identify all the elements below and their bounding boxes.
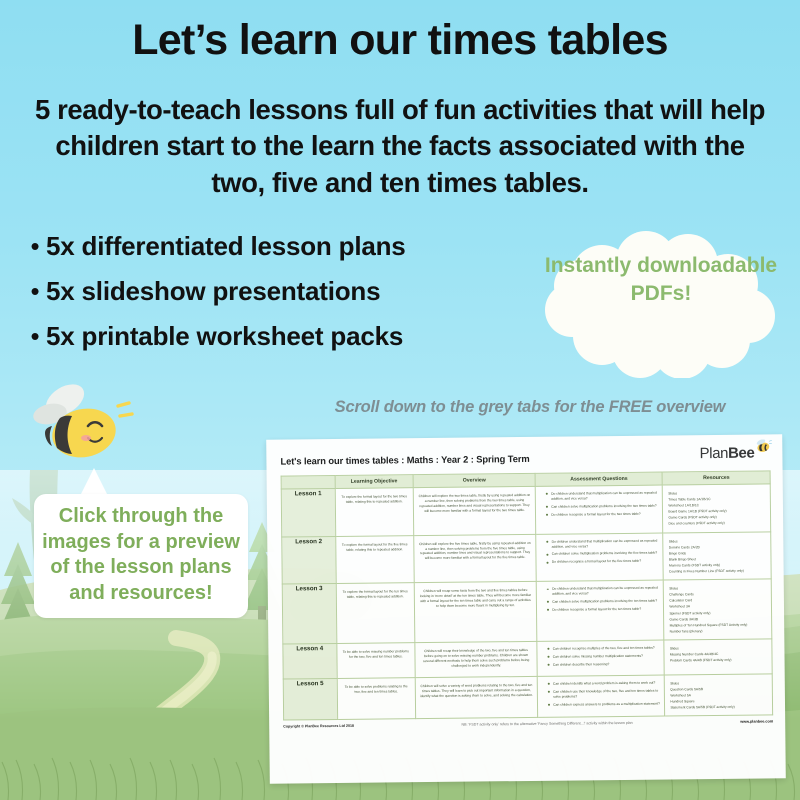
assessment-question: Do children understand that multiplicati…	[546, 491, 658, 502]
page-title: Let’s learn our times tables	[0, 16, 800, 65]
footer-copyright: Copyright © PlanBee Resources Ltd 2018	[283, 724, 354, 729]
cell-assessment-questions: Do children understand that multiplicati…	[536, 533, 664, 582]
planbee-logo: PlanBee	[700, 444, 771, 462]
assessment-question: Can children use their knowledge of the …	[548, 688, 660, 699]
footer-url: www.planbee.com	[740, 720, 773, 724]
assessment-question: Can children solve multiplication proble…	[547, 599, 659, 605]
assessment-question: Do children recognise a formal layout fo…	[546, 511, 658, 517]
cell-learning-objective: To be able to solve missing number probl…	[337, 643, 416, 679]
column-header-blank	[281, 475, 335, 489]
column-header-overview: Overview	[413, 473, 535, 487]
lesson-plan-table: Learning Objective Overview Assessment Q…	[281, 470, 774, 720]
bullet-label: 5x differentiated lesson plans	[46, 228, 406, 264]
cloud-badge-text: Instantly downloadable PDFs!	[536, 252, 786, 308]
bullet-dot-icon: •	[24, 273, 46, 309]
assessment-question: Do children understand that multiplicati…	[547, 586, 659, 597]
speech-bubble-text: Click through the images for a preview o…	[42, 504, 240, 606]
cell-lesson-number: Lesson 4	[283, 643, 337, 678]
cell-overview: Children will solve a variety of word pr…	[415, 676, 538, 719]
assessment-question: Can children solve missing number multip…	[548, 653, 660, 659]
bullet-label: 5x slideshow presentations	[46, 273, 380, 309]
cell-resources: SlidesTimes Table Cards 1A/1B/1CWorkshee…	[663, 484, 771, 533]
resource-item: Number fans (plenary)	[670, 627, 767, 634]
resource-item: Problem Cards 4A/4B (FSDT activity only)	[670, 657, 767, 664]
cell-learning-objective: To be able to solve problems relating to…	[337, 677, 416, 719]
cell-learning-objective: To explore the formal layout for the fiv…	[336, 535, 415, 583]
logo-bee-icon	[754, 439, 772, 453]
page-subtitle: 5 ready-to-teach lessons full of fun act…	[34, 92, 766, 201]
resource-item: Dice and counters (FSDT activity only)	[668, 520, 765, 527]
bullet-dot-icon: •	[24, 228, 46, 264]
logo-text-bee: Bee	[728, 445, 755, 462]
assessment-question: Can children solve multiplication proble…	[546, 503, 658, 509]
cloud-badge: Instantly downloadable PDFs!	[536, 228, 786, 378]
table-row: Lesson 5To be able to solve problems rel…	[283, 674, 772, 721]
bullet-label: 5x printable worksheet packs	[46, 318, 403, 354]
resource-item: Statement Cards 5A/5B (FSDT activity onl…	[670, 704, 767, 711]
assessment-question: Do children recognise a formal layout fo…	[547, 559, 659, 565]
cell-learning-objective: To explore the formal layout for the ten…	[336, 583, 415, 644]
table-row: Lesson 4To be able to solve missing numb…	[283, 639, 772, 679]
list-item: • 5x printable worksheet packs	[24, 318, 524, 354]
cell-resources: SlidesQuestion Cards 5A/5BWorksheet 5AHu…	[665, 674, 773, 717]
cell-lesson-number: Lesson 2	[282, 536, 336, 584]
promo-graphic: Let’s learn our times tables 5 ready-to-…	[0, 0, 800, 800]
document-title: Let's learn our times tables : Maths : Y…	[280, 447, 529, 467]
cell-assessment-questions: Can children recognise multiples of the …	[537, 640, 664, 676]
column-header-assessment-questions: Assessment Questions	[535, 472, 662, 486]
table-row: Lesson 3To explore the formal layout for…	[282, 579, 772, 644]
cell-overview: Children will explore the two times tabl…	[413, 486, 536, 535]
cell-assessment-questions: Do children understand that multiplicati…	[535, 485, 663, 534]
assessment-question: Can children express answers to problems…	[548, 701, 660, 707]
cell-overview: Children will explore the five times tab…	[414, 534, 537, 583]
list-item: • 5x differentiated lesson plans	[24, 228, 524, 264]
speech-bubble: Click through the images for a preview o…	[34, 494, 248, 618]
assessment-question: Do children recognise a formal layout fo…	[547, 607, 659, 613]
assessment-question: Can children solve multiplication proble…	[547, 551, 659, 557]
bullet-dot-icon: •	[24, 318, 46, 354]
cell-learning-objective: To explore the formal layout for the two…	[335, 488, 414, 536]
cell-assessment-questions: Do children understand that multiplicati…	[536, 580, 664, 641]
assessment-question: Can children identify what a word proble…	[548, 680, 660, 686]
cell-lesson-number: Lesson 3	[282, 584, 336, 644]
assessment-question: Can children describe their reasoning?	[548, 661, 660, 667]
column-header-resources: Resources	[662, 471, 770, 485]
table-row: Lesson 1To explore the formal layout for…	[281, 484, 770, 537]
cell-overview: Children will recap some facts from the …	[414, 582, 537, 643]
cell-assessment-questions: Can children identify what a word proble…	[537, 675, 665, 718]
cell-lesson-number: Lesson 1	[281, 488, 335, 536]
scroll-hint-text: Scroll down to the grey tabs for the FRE…	[280, 398, 780, 417]
lesson-overview-document[interactable]: Let's learn our times tables : Maths : Y…	[266, 434, 786, 783]
assessment-question: Do children understand that multiplicati…	[547, 538, 659, 549]
cell-resources: SlidesMissing Number Cards 4A/4B/4CProbl…	[664, 639, 772, 675]
table-row: Lesson 2To explore the formal layout for…	[282, 531, 771, 584]
cell-overview: Children will recap their knowledge of t…	[415, 641, 538, 677]
cell-resources: SlidesDomino Cards 2A/2BBingo GridsBlank…	[663, 531, 771, 580]
feature-bullet-list: • 5x differentiated lesson plans • 5x sl…	[24, 228, 524, 363]
logo-text-plan: Plan	[700, 445, 729, 462]
footer-note: NB: 'FSDT activity only' refers to the a…	[354, 720, 740, 728]
column-header-learning-objective: Learning Objective	[335, 475, 413, 489]
list-item: • 5x slideshow presentations	[24, 273, 524, 309]
resource-item: Counting in Fives Number Line (FSDT acti…	[669, 568, 766, 575]
cell-lesson-number: Lesson 5	[283, 678, 337, 720]
cell-resources: SlidesChallenge CardsCalculator CardWork…	[664, 579, 772, 640]
assessment-question: Can children recognise multiples of the …	[548, 645, 660, 651]
